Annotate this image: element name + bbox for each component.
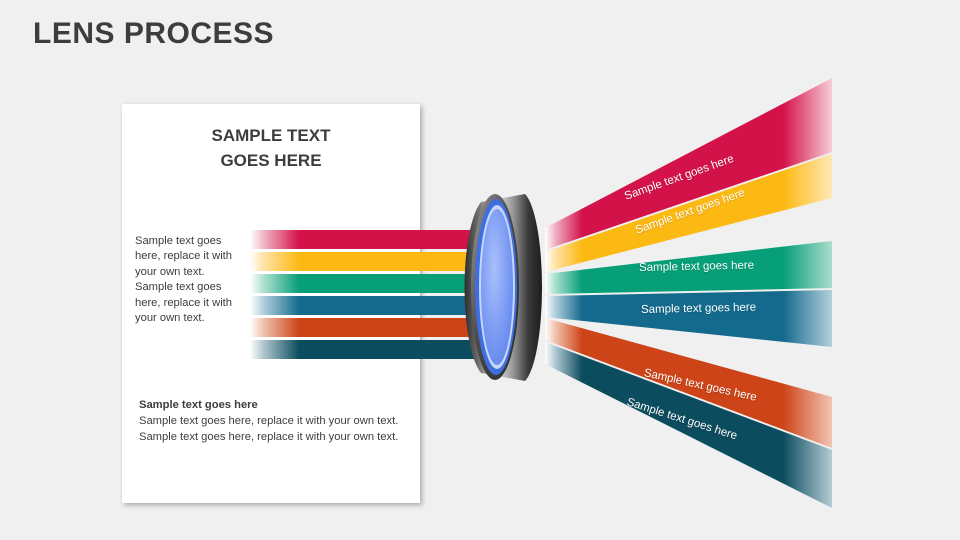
output-beam-label-teal: Sample text goes here <box>641 302 756 316</box>
output-beam-label-green: Sample text goes here <box>639 260 754 274</box>
slide-canvas: LENS PROCESS SAMPLE TEXT GOES HERE Sampl… <box>0 0 960 540</box>
lens-icon[interactable] <box>462 190 554 385</box>
